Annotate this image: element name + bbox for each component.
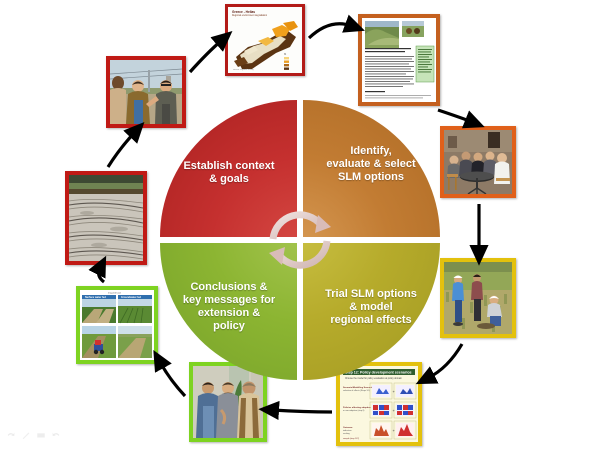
svg-text:valuation of effects (Steps 3-: valuation of effects (Steps 3-5) (343, 389, 370, 392)
redo-icon[interactable] (51, 430, 61, 440)
svg-text:ranking: ranking (343, 433, 350, 435)
arrow-policy-to-discussion (272, 410, 332, 412)
svg-text:%: % (284, 53, 287, 56)
arrow-degradedland-to-farmers (108, 132, 135, 167)
arrow-farmers-to-map (190, 40, 222, 72)
fact-sheet-image (362, 18, 436, 102)
arrow-map-to-factsheet (309, 24, 352, 38)
photo-card-water-source-grid[interactable]: Irrigated land Surface water fed Groundw… (76, 286, 158, 364)
quadrant-identify-evaluate-label: Identify, evaluate & select SLM options (312, 145, 430, 184)
pen-icon[interactable] (21, 430, 31, 440)
slm-cycle-wheel: Establish context & goals Identify, eval… (160, 100, 440, 380)
svg-text:Surface water fed: Surface water fed (85, 296, 106, 299)
svg-text:or non-adoption (step 6): or non-adoption (step 6) (343, 409, 365, 412)
degraded-land-image (69, 175, 143, 261)
diagram-canvas: Greece - Hellas Regional environment deg… (0, 0, 600, 450)
svg-text:Groundwater fed: Groundwater fed (121, 296, 141, 299)
svg-text:sample (step 10?): sample (step 10?) (343, 437, 359, 440)
photo-card-field-trial[interactable] (440, 258, 516, 338)
svg-text:Outcome: Outcome (343, 426, 353, 429)
svg-text:indicators: indicators (343, 429, 352, 432)
map-graphic: % (228, 17, 302, 73)
photo-card-degraded-land[interactable] (65, 171, 147, 265)
photo-card-fact-sheet[interactable] (358, 14, 440, 106)
arrow-factsheet-to-meeting (438, 110, 472, 122)
photo-card-stakeholder-meeting[interactable] (440, 126, 516, 198)
circular-rotation-arrows-icon (255, 195, 345, 285)
quadrant-establish-context-label: Establish context & goals (170, 160, 288, 186)
quadrant-trial-model-label: Trial SLM options & model regional effec… (312, 288, 430, 327)
photo-card-region-map[interactable]: Greece - Hellas Regional environment deg… (225, 4, 305, 76)
field-trial-image (444, 262, 512, 334)
svg-text:Policies affecting adoption: Policies affecting adoption (343, 406, 371, 409)
mini-toolbar[interactable] (6, 428, 68, 442)
quadrant-conclusions-label: Conclusions & key messages for extension… (170, 281, 288, 333)
arrow-grid-to-degradedland (99, 268, 104, 282)
stakeholder-meeting-image (444, 130, 512, 194)
undo-icon[interactable] (6, 430, 16, 440)
grid-top-caption: Irrigated land (108, 291, 122, 294)
slide-icon[interactable] (36, 430, 46, 440)
water-source-grid-image: Irrigated land Surface water fed Groundw… (80, 290, 154, 360)
map-title: Greece - Hellas (232, 10, 255, 14)
svg-text:Scenario/Modelling Scenario 1:: Scenario/Modelling Scenario 1: (343, 387, 376, 389)
map-footnote: source: regional survey (233, 69, 254, 71)
